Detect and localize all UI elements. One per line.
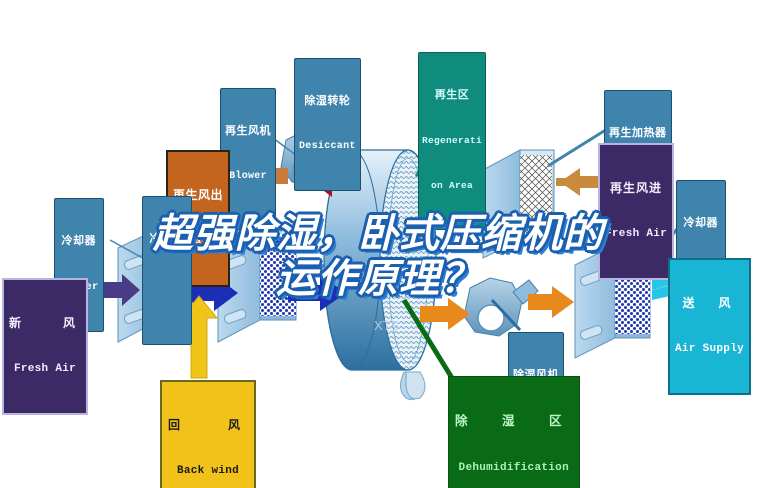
label-desiccant-en: Desiccant [299,142,356,153]
label-regeneration-area[interactable]: 再生区 Regenerati on Area [418,52,486,230]
label-desiccant[interactable]: 除湿转轮 Desiccant [294,58,361,191]
label-cooler-middle-cn: 冷却器 [147,234,187,246]
label-cooler-left-cn: 冷却器 [59,236,99,248]
svg-text:XTS: XTS [374,318,400,333]
label-air-supply-en: Air Supply [675,344,744,356]
label-regen-area-en1: Regenerati [422,136,482,146]
label-heater-cn: 再生加热器 [609,128,667,140]
dehumidification-blower [464,278,538,336]
label-air-supply[interactable]: 送 风 Air Supply [668,258,751,395]
label-air-supply-cn: 送 风 [675,297,744,310]
label-back-wind[interactable]: 回 风 Back wind [160,380,256,488]
label-regen-area-en2: on Area [422,181,482,191]
label-back-wind-en: Back wind [168,466,248,478]
label-regen-fresh-air-cn: 再生风进 [605,182,667,195]
label-regen-fresh-air-en: Fresh Air [605,229,667,241]
label-fresh-air[interactable]: 新 风 Fresh Air [2,278,88,415]
label-regen-area-cn: 再生区 [422,90,482,102]
regeneration-heater [483,150,554,258]
label-fresh-air-en: Fresh Air [9,364,81,376]
label-cooler-right-cn: 冷却器 [681,218,721,230]
label-cooler-middle[interactable]: 冷却器 Cooler [142,196,192,345]
label-fresh-air-cn: 新 风 [9,317,81,330]
label-dehumidification-district[interactable]: 除 湿 区 Dehumidification District [448,376,580,488]
label-dehum-district-en1: Dehumidification [455,463,573,475]
label-back-wind-cn: 回 风 [168,419,248,432]
label-dehum-district-cn: 除 湿 区 [455,415,573,429]
label-regen-fresh-air[interactable]: 再生风进 Fresh Air [598,143,674,280]
diagram-canvas: XTS [0,0,757,488]
label-regen-blower-cn: 再生风机 [225,126,271,138]
label-desiccant-cn: 除湿转轮 [299,96,356,108]
label-regen-blower-en: Blower [225,172,271,183]
